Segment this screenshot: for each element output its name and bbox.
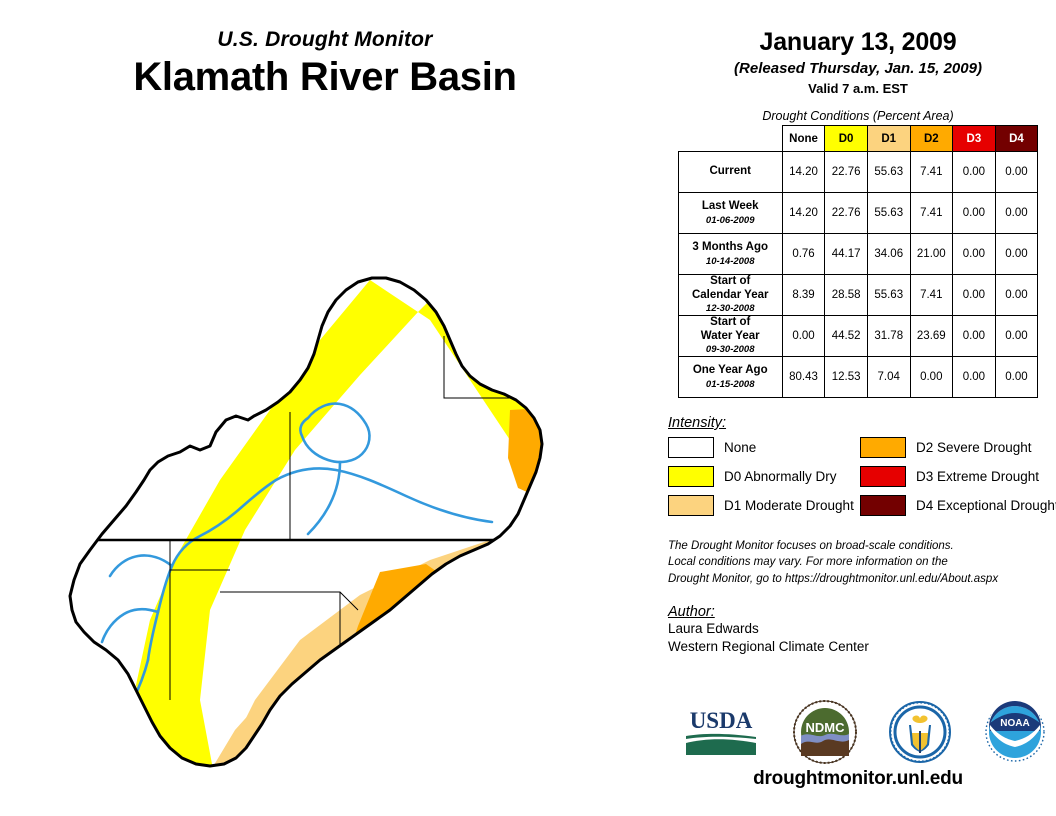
- row-label-date: 12-30-2008: [679, 303, 782, 314]
- report-date: January 13, 2009: [660, 28, 1056, 57]
- row-label-text: Start ofWater Year: [701, 316, 760, 342]
- cell-d4: 0.00: [995, 193, 1038, 234]
- row-label-current: Current: [678, 152, 782, 193]
- date-block: January 13, 2009 (Released Thursday, Jan…: [660, 0, 1056, 96]
- table-row: Current 14.20 22.76 55.63 7.41 0.00 0.00: [678, 152, 1038, 193]
- legend-item-d3: D3 Extreme Drought: [860, 466, 1052, 487]
- legend-item-d1: D1 Moderate Drought: [668, 495, 860, 516]
- cell-d4: 0.00: [995, 275, 1038, 316]
- cell-d2: 7.41: [910, 193, 953, 234]
- col-header-d3: D3: [953, 126, 996, 152]
- commerce-mast: [919, 731, 921, 753]
- row-label-text: Current: [709, 165, 751, 177]
- table-row: Start ofWater Year 09-30-2008 0.00 44.52…: [678, 316, 1038, 357]
- table-corner-cell: [678, 126, 782, 152]
- table-row: One Year Ago 01-15-2008 80.43 12.53 7.04…: [678, 357, 1038, 398]
- basin-name: Klamath River Basin: [0, 55, 650, 100]
- col-header-d4: D4: [995, 126, 1038, 152]
- cell-none: 14.20: [782, 193, 825, 234]
- row-label-text: 3 Months Ago: [692, 241, 768, 253]
- drought-monitor-page: U.S. Drought Monitor Klamath River Basin: [0, 0, 1056, 816]
- table-row: 3 Months Ago 10-14-2008 0.76 44.17 34.06…: [678, 234, 1038, 275]
- table-header: None D0 D1 D2 D3 D4: [678, 126, 1038, 152]
- swatch-d1: [668, 495, 714, 516]
- cell-none: 8.39: [782, 275, 825, 316]
- cell-d0: 28.58: [825, 275, 868, 316]
- cell-d4: 0.00: [995, 234, 1038, 275]
- col-header-none: None: [782, 126, 825, 152]
- legend-item-d0: D0 Abnormally Dry: [668, 466, 860, 487]
- cell-d2: 7.41: [910, 152, 953, 193]
- row-label-date: 10-14-2008: [679, 256, 782, 267]
- legend-label-d4: D4 Exceptional Drought: [916, 498, 1056, 513]
- noaa-logo[interactable]: NOAA: [984, 701, 1046, 768]
- cell-d1: 55.63: [867, 152, 910, 193]
- cell-d3: 0.00: [953, 193, 996, 234]
- intensity-legend: None D2 Severe Drought D0 Abnormally Dry…: [668, 437, 1056, 516]
- swatch-none: [668, 437, 714, 458]
- row-label-one-year-ago: One Year Ago 01-15-2008: [678, 357, 782, 398]
- right-panel: January 13, 2009 (Released Thursday, Jan…: [660, 0, 1056, 816]
- author-name: Laura Edwards: [668, 620, 1056, 638]
- col-header-d0: D0: [825, 126, 868, 152]
- cell-d3: 0.00: [953, 275, 996, 316]
- cell-d0: 44.17: [825, 234, 868, 275]
- table-body: Current 14.20 22.76 55.63 7.41 0.00 0.00…: [678, 152, 1038, 398]
- row-label-date: 01-06-2009: [679, 215, 782, 226]
- release-date: (Released Thursday, Jan. 15, 2009): [660, 60, 1056, 77]
- row-label-date: 09-30-2008: [679, 344, 782, 355]
- cell-d2: 0.00: [910, 357, 953, 398]
- usda-field-block: [686, 739, 756, 755]
- usda-wordmark: USDA: [690, 708, 753, 733]
- ndmc-wordmark: NDMC: [805, 720, 845, 735]
- swatch-d3: [860, 466, 906, 487]
- row-label-text: One Year Ago: [693, 364, 768, 376]
- cell-d0: 44.52: [825, 316, 868, 357]
- cell-d3: 0.00: [953, 357, 996, 398]
- cell-d0: 22.76: [825, 193, 868, 234]
- col-header-d2: D2: [910, 126, 953, 152]
- cell-d1: 55.63: [867, 275, 910, 316]
- swatch-d2: [860, 437, 906, 458]
- valid-time: Valid 7 a.m. EST: [660, 81, 1056, 96]
- cell-d0: 22.76: [825, 152, 868, 193]
- legend-label-d1: D1 Moderate Drought: [724, 498, 854, 513]
- cell-d2: 21.00: [910, 234, 953, 275]
- cell-d4: 0.00: [995, 316, 1038, 357]
- website-url[interactable]: droughtmonitor.unl.edu: [660, 768, 1056, 790]
- cell-d2: 23.69: [910, 316, 953, 357]
- legend-label-d0: D0 Abnormally Dry: [724, 469, 837, 484]
- cell-d4: 0.00: [995, 152, 1038, 193]
- cell-none: 0.76: [782, 234, 825, 275]
- legend-item-d2: D2 Severe Drought: [860, 437, 1052, 458]
- swatch-d0: [668, 466, 714, 487]
- row-label-start-of-calendar-year: Start ofCalendar Year 12-30-2008: [678, 275, 782, 316]
- author-heading: Author:: [668, 604, 1056, 620]
- legend-label-d3: D3 Extreme Drought: [916, 469, 1039, 484]
- ndmc-logo[interactable]: NDMC: [793, 700, 857, 769]
- author-organization: Western Regional Climate Center: [668, 638, 1056, 656]
- ndmc-land: [801, 739, 849, 756]
- row-label-text: Start ofCalendar Year: [692, 275, 769, 301]
- disclaimer-line-1: The Drought Monitor focuses on broad-sca…: [668, 538, 1056, 554]
- intensity-heading: Intensity:: [668, 415, 1056, 431]
- usdm-kicker: U.S. Drought Monitor: [0, 28, 650, 51]
- logo-row: USDA NDMC: [660, 692, 1056, 776]
- map-title-block: U.S. Drought Monitor Klamath River Basin: [0, 28, 650, 100]
- drought-conditions-table: None D0 D1 D2 D3 D4 Current 14.20 22.76 …: [678, 125, 1039, 398]
- cell-d3: 0.00: [953, 152, 996, 193]
- us-department-of-commerce-seal[interactable]: [889, 701, 951, 768]
- cell-d4: 0.00: [995, 357, 1038, 398]
- legend-item-d4: D4 Exceptional Drought: [860, 495, 1052, 516]
- cell-d3: 0.00: [953, 234, 996, 275]
- row-label-last-week: Last Week 01-06-2009: [678, 193, 782, 234]
- cell-d1: 34.06: [867, 234, 910, 275]
- table-caption: Drought Conditions (Percent Area): [660, 109, 1056, 123]
- table-row: Last Week 01-06-2009 14.20 22.76 55.63 7…: [678, 193, 1038, 234]
- table-row: Start ofCalendar Year 12-30-2008 8.39 28…: [678, 275, 1038, 316]
- cell-d3: 0.00: [953, 316, 996, 357]
- cell-d1: 31.78: [867, 316, 910, 357]
- usda-field-stripe-1: [686, 733, 756, 738]
- cell-d0: 12.53: [825, 357, 868, 398]
- legend-label-d2: D2 Severe Drought: [916, 440, 1032, 455]
- legend-item-none: None: [668, 437, 860, 458]
- cell-none: 0.00: [782, 316, 825, 357]
- row-label-date: 01-15-2008: [679, 379, 782, 390]
- disclaimer-line-3: Drought Monitor, go to https://droughtmo…: [668, 571, 1056, 587]
- row-label-text: Last Week: [702, 200, 759, 212]
- klamath-river-basin-map: [40, 140, 660, 780]
- disclaimer-line-2: Local conditions may vary. For more info…: [668, 554, 1056, 570]
- disclaimer-text: The Drought Monitor focuses on broad-sca…: [668, 538, 1056, 587]
- cell-d2: 7.41: [910, 275, 953, 316]
- legend-label-none: None: [724, 440, 756, 455]
- cell-none: 14.20: [782, 152, 825, 193]
- row-label-3-months-ago: 3 Months Ago 10-14-2008: [678, 234, 782, 275]
- cell-none: 80.43: [782, 357, 825, 398]
- row-label-start-of-water-year: Start ofWater Year 09-30-2008: [678, 316, 782, 357]
- swatch-d4: [860, 495, 906, 516]
- col-header-d1: D1: [867, 126, 910, 152]
- cell-d1: 55.63: [867, 193, 910, 234]
- cell-d1: 7.04: [867, 357, 910, 398]
- noaa-wordmark: NOAA: [1000, 718, 1029, 729]
- usda-logo[interactable]: USDA: [682, 706, 760, 763]
